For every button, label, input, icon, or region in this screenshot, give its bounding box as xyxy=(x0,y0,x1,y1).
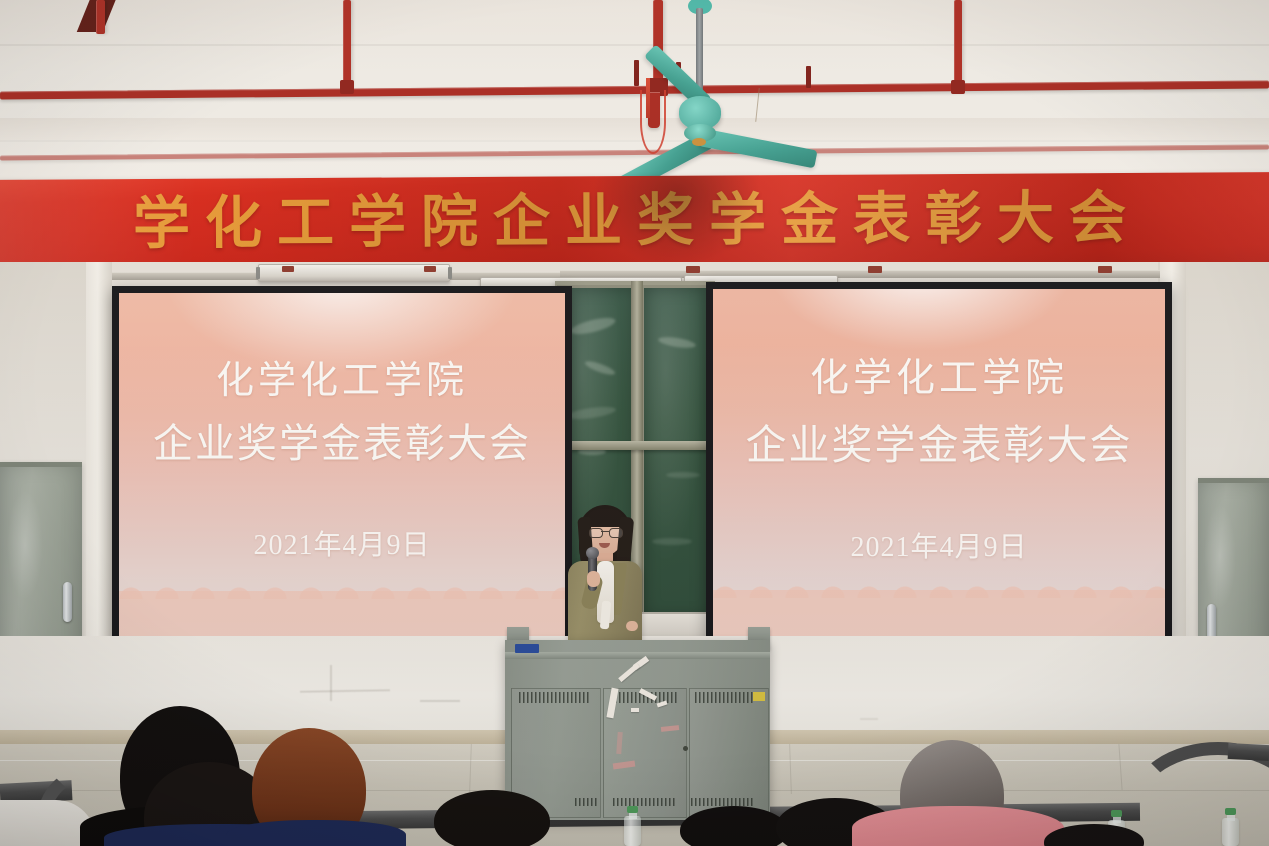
speaker-hair-right xyxy=(616,516,634,567)
fan-hub-nut xyxy=(692,138,706,146)
slide-left-scallop-edge xyxy=(119,581,565,599)
podium-lock[interactable] xyxy=(683,746,688,751)
projection-screen-left-surface: 化学化工学院 企业奖学金表彰大会 2021年4月9日 xyxy=(119,293,565,637)
stage-edge-right xyxy=(1228,743,1269,761)
podium-vent-bottom-center xyxy=(613,798,677,806)
podium-tape-6 xyxy=(631,708,639,712)
rail-clip-2 xyxy=(424,266,436,272)
microphone-head-icon xyxy=(586,547,599,559)
audience-shoulders-3 xyxy=(226,820,406,846)
podium-vent-top-right xyxy=(695,692,755,703)
slide-left-line2: 企业奖学金表彰大会 xyxy=(119,411,565,469)
podium-tape-2 xyxy=(618,663,640,682)
door-right-sheen xyxy=(1204,504,1236,609)
water-bottle-3[interactable] xyxy=(1222,818,1239,846)
podium-vent-top-left xyxy=(519,692,591,703)
sprinkler-pipe-vertical-c xyxy=(954,0,962,90)
slide-left-line1: 化学化工学院 xyxy=(119,349,565,404)
water-bottle-2-cap[interactable] xyxy=(1111,810,1122,817)
speaker-at-podium xyxy=(560,505,648,655)
rail-clip-5 xyxy=(1098,266,1112,273)
speaker-hand-right xyxy=(626,621,638,631)
podium xyxy=(505,640,770,820)
chalkboard-tray-mid xyxy=(555,441,715,450)
door-right-header xyxy=(1198,478,1269,483)
sprinkler-pipe-vertical-a xyxy=(343,0,351,90)
pipe-bracket-b3 xyxy=(806,66,811,88)
water-bottle-3-cap[interactable] xyxy=(1225,808,1236,815)
slide-left-date: 2021年4月9日 xyxy=(119,523,565,563)
pull-cord[interactable] xyxy=(640,90,666,154)
slide-right-line1: 化学化工学院 xyxy=(713,347,1165,403)
door-left-header xyxy=(0,462,82,467)
audience-head-4 xyxy=(434,790,550,846)
ceremony-photo: 学化工学院企业奖学金表彰大会 ■ ■ ▬▬▬ xyxy=(0,0,1269,846)
door-left-sheen xyxy=(7,490,44,600)
pipe-joint-a xyxy=(340,80,354,94)
slide-right-date: 2021年4月9日 xyxy=(713,525,1165,565)
podium-yellow-label xyxy=(753,692,765,701)
audience-head-5 xyxy=(680,806,788,846)
pipe-joint-c xyxy=(951,80,965,94)
glasses-icon xyxy=(589,528,621,536)
slide-right-line2: 企业奖学金表彰大会 xyxy=(713,411,1165,471)
podium-top-edge xyxy=(505,652,770,659)
banner-shadow xyxy=(592,175,763,268)
rail-clip-1 xyxy=(282,266,294,272)
sprinkler-pipe-vertical-left xyxy=(96,0,105,34)
slide-right-scallop-edge xyxy=(713,580,1165,598)
rail-clip-4 xyxy=(868,266,882,273)
water-bottle-1-cap[interactable] xyxy=(627,806,638,813)
speaker-hand-holding-mic xyxy=(587,571,600,587)
rail-clip-3 xyxy=(686,266,700,273)
pipe-bracket-b1 xyxy=(634,60,639,86)
projection-screen-left: 化学化工学院 企业奖学金表彰大会 2021年4月9日 xyxy=(112,286,572,644)
water-bottle-2-neck xyxy=(1113,816,1121,823)
podium-sticker xyxy=(515,644,539,653)
projection-screen-right-surface: 化学化工学院 企业奖学金表彰大会 2021年4月9日 xyxy=(713,289,1165,636)
podium-vent-bottom-left xyxy=(575,798,597,806)
event-banner: 学化工学院企业奖学金表彰大会 xyxy=(0,172,1269,272)
door-left-handle[interactable] xyxy=(63,582,72,622)
projection-screen-right: 化学化工学院 企业奖学金表彰大会 2021年4月9日 xyxy=(706,282,1172,643)
water-bottle-1[interactable] xyxy=(624,816,641,846)
podium-vent-bottom-right xyxy=(691,798,753,806)
water-bottle-3-neck xyxy=(1227,814,1235,821)
water-bottle-1-neck xyxy=(629,812,637,819)
audience-man-pink-shirt xyxy=(852,806,1064,846)
